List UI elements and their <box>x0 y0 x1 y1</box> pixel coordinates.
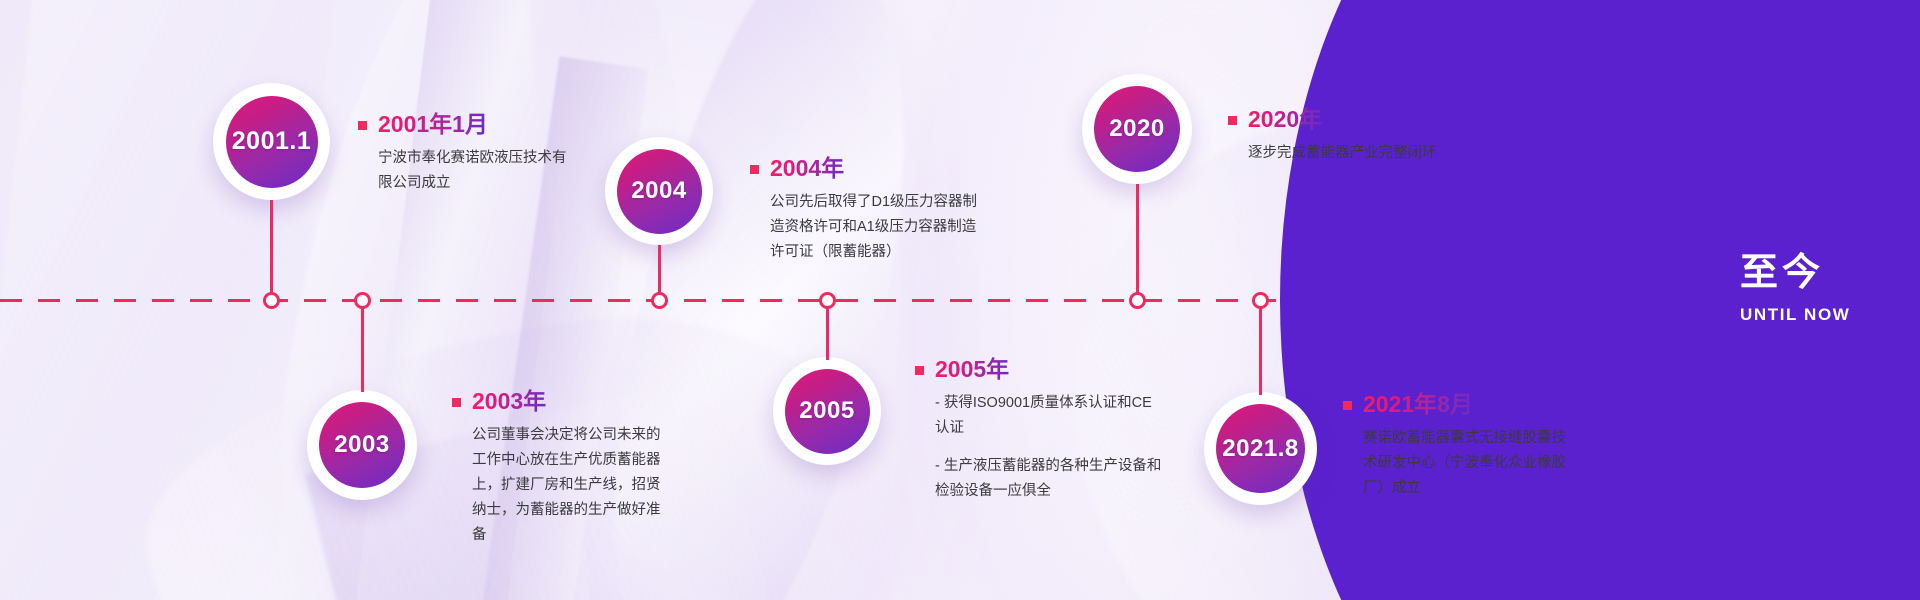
milestone-axis-dot-2021-8[interactable] <box>1252 292 1269 309</box>
milestone-year-2020: 2020年 <box>1248 107 1322 132</box>
milestone-year-2004: 2004年 <box>770 156 844 181</box>
milestone-connector-2021-8 <box>1259 300 1262 395</box>
until-now-text: 至今 UNTIL NOW <box>1740 252 1920 325</box>
until-now-title-cn: 至今 <box>1740 252 1920 296</box>
milestone-paragraph: 逐步完成蓄能器产业完整闭环 <box>1248 141 1528 166</box>
milestone-bubble-2004[interactable]: 2004 <box>605 137 713 245</box>
milestone-axis-dot-2004[interactable] <box>651 292 668 309</box>
milestone-text-2020: 2020年 逐步完成蓄能器产业完整闭环 <box>1228 107 1528 166</box>
milestone-bubble-label: 2004 <box>617 149 702 234</box>
milestone-heading-row: 2001年1月 <box>358 112 570 137</box>
milestone-text-2005: 2005年 - 获得ISO9001质量体系认证和CE认证 - 生产液压蓄能器的各… <box>915 357 1163 504</box>
square-bullet-icon <box>358 121 367 130</box>
milestone-description-2004: 公司先后取得了D1级压力容器制造资格许可和A1级压力容器制造许可证（限蓄能器） <box>770 190 988 265</box>
milestone-paragraph: - 生产液压蓄能器的各种生产设备和检验设备一应俱全 <box>935 454 1163 504</box>
milestone-connector-2020 <box>1136 184 1139 301</box>
square-bullet-icon <box>452 398 461 407</box>
milestone-year-2003: 2003年 <box>472 389 546 414</box>
milestone-bubble-label: 2020 <box>1094 86 1180 172</box>
milestone-bubble-2021-8[interactable]: 2021.8 <box>1204 392 1317 505</box>
milestone-bubble-2001-1[interactable]: 2001.1 <box>213 83 330 200</box>
milestone-text-2021-8: 2021年8月 赛诺欧蓄能器囊式无接缝胶囊技术研发中心（宁波奉化众业橡胶厂）成立 <box>1343 392 1575 501</box>
milestone-description-2005: - 获得ISO9001质量体系认证和CE认证 - 生产液压蓄能器的各种生产设备和… <box>935 391 1163 504</box>
milestone-text-2001-1: 2001年1月 宁波市奉化赛诺欧液压技术有限公司成立 <box>358 112 570 196</box>
square-bullet-icon <box>915 366 924 375</box>
milestone-connector-2001-1 <box>270 200 273 301</box>
square-bullet-icon <box>1228 116 1237 125</box>
milestone-description-2020: 逐步完成蓄能器产业完整闭环 <box>1248 141 1528 166</box>
milestone-heading-row: 2004年 <box>750 156 988 181</box>
milestone-heading-row: 2005年 <box>915 357 1163 382</box>
milestone-paragraph: 公司先后取得了D1级压力容器制造资格许可和A1级压力容器制造许可证（限蓄能器） <box>770 190 988 265</box>
milestone-bubble-2020[interactable]: 2020 <box>1082 74 1192 184</box>
milestone-year-2021-8: 2021年8月 <box>1363 392 1473 417</box>
milestone-axis-dot-2001-1[interactable] <box>263 292 280 309</box>
until-now-title-en: UNTIL NOW <box>1740 305 1920 325</box>
milestone-heading-row: 2021年8月 <box>1343 392 1575 417</box>
milestone-heading-row: 2020年 <box>1228 107 1528 132</box>
square-bullet-icon <box>750 165 759 174</box>
milestone-paragraph: 公司董事会决定将公司未来的工作中心放在生产优质蓄能器上，扩建厂房和生产线，招贤纳… <box>472 423 674 548</box>
milestone-text-2003: 2003年 公司董事会决定将公司未来的工作中心放在生产优质蓄能器上，扩建厂房和生… <box>452 389 674 548</box>
milestone-description-2021-8: 赛诺欧蓄能器囊式无接缝胶囊技术研发中心（宁波奉化众业橡胶厂）成立 <box>1363 426 1575 501</box>
timeline-infographic: 至今 UNTIL NOW 2001.1 2001年1月 宁波市奉化赛诺欧液压技术… <box>0 0 1920 600</box>
milestone-bubble-label: 2005 <box>785 369 870 454</box>
milestone-heading-row: 2003年 <box>452 389 674 414</box>
milestone-bubble-label: 2021.8 <box>1216 404 1305 493</box>
milestone-connector-2005 <box>826 300 829 360</box>
milestone-paragraph: - 获得ISO9001质量体系认证和CE认证 <box>935 391 1163 441</box>
milestone-bubble-label: 2003 <box>319 402 405 488</box>
milestone-description-2001-1: 宁波市奉化赛诺欧液压技术有限公司成立 <box>378 146 570 196</box>
milestone-year-2005: 2005年 <box>935 357 1009 382</box>
milestone-connector-2003 <box>361 300 364 392</box>
milestone-paragraph: 赛诺欧蓄能器囊式无接缝胶囊技术研发中心（宁波奉化众业橡胶厂）成立 <box>1363 426 1575 501</box>
milestone-axis-dot-2020[interactable] <box>1129 292 1146 309</box>
milestone-year-2001-1: 2001年1月 <box>378 112 488 137</box>
milestone-axis-dot-2005[interactable] <box>819 292 836 309</box>
milestone-text-2004: 2004年 公司先后取得了D1级压力容器制造资格许可和A1级压力容器制造许可证（… <box>750 156 988 265</box>
milestone-paragraph: 宁波市奉化赛诺欧液压技术有限公司成立 <box>378 146 570 196</box>
square-bullet-icon <box>1343 401 1352 410</box>
milestone-bubble-label: 2001.1 <box>226 96 318 188</box>
milestone-axis-dot-2003[interactable] <box>354 292 371 309</box>
milestone-description-2003: 公司董事会决定将公司未来的工作中心放在生产优质蓄能器上，扩建厂房和生产线，招贤纳… <box>472 423 674 548</box>
milestone-bubble-2003[interactable]: 2003 <box>307 390 417 500</box>
milestone-bubble-2005[interactable]: 2005 <box>773 357 881 465</box>
